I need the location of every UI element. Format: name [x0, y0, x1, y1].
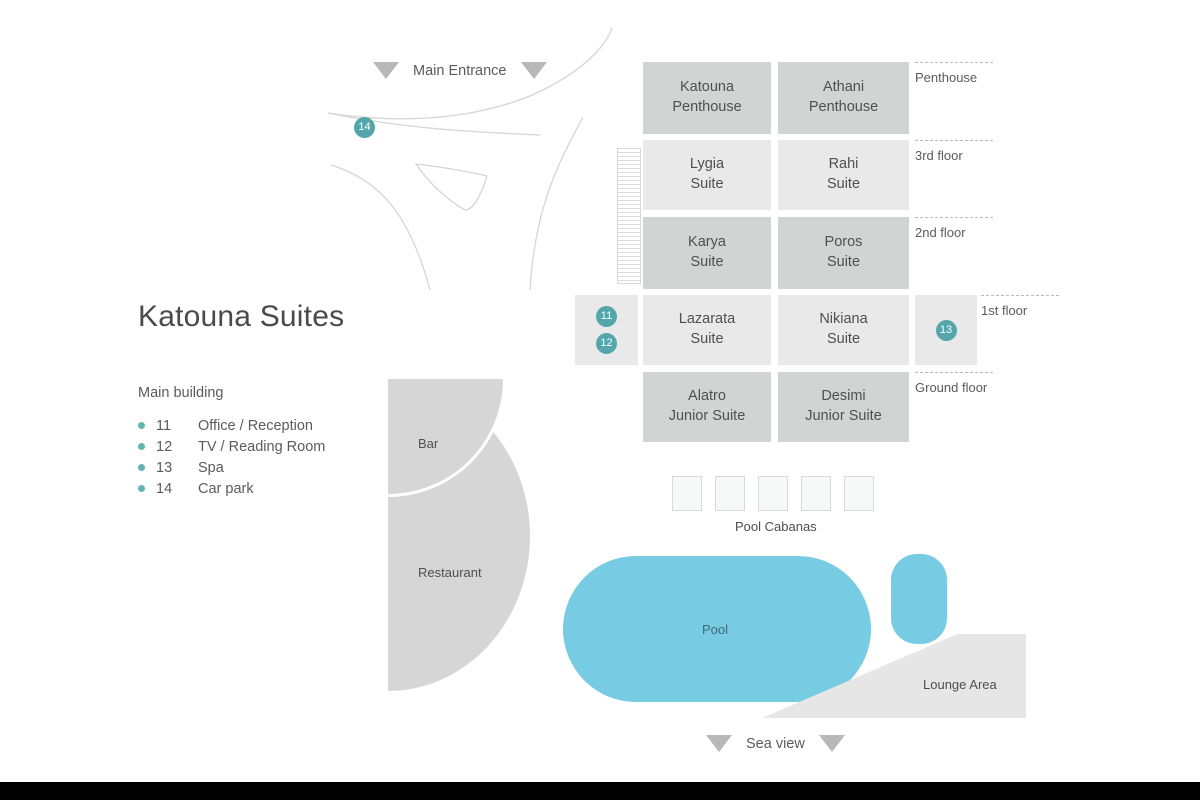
main-entrance-direction: Main Entrance [373, 62, 547, 79]
bullet-icon [138, 464, 145, 471]
page-title: Katouna Suites [138, 300, 344, 334]
bullet-icon [138, 443, 145, 450]
cabana[interactable] [715, 476, 745, 511]
floor-label-2nd: 2nd floor [915, 225, 966, 240]
legend-label: Spa [198, 460, 398, 476]
marker-spa[interactable]: 13 [936, 320, 957, 341]
suite-alatro-junior[interactable]: Alatro Junior Suite [643, 372, 771, 442]
suite-label: Alatro Junior Suite [669, 387, 746, 426]
marker-car-park[interactable]: 14 [354, 117, 375, 138]
marker-tv-reading-room[interactable]: 12 [596, 333, 617, 354]
jacuzzi-shape[interactable] [891, 554, 947, 644]
facilities-block-left[interactable]: 11 12 [575, 295, 638, 365]
floor-label-penthouse: Penthouse [915, 70, 977, 85]
arrow-down-icon [373, 62, 399, 79]
suite-label: Nikiana Suite [819, 310, 867, 349]
suite-katouna-penthouse[interactable]: Katouna Penthouse [643, 62, 771, 134]
suite-label: Poros Suite [825, 233, 863, 272]
floor-divider-3rd [915, 140, 993, 141]
suite-athani-penthouse[interactable]: Athani Penthouse [778, 62, 909, 134]
suite-label: Katouna Penthouse [672, 78, 741, 117]
pool-label: Pool [702, 622, 728, 637]
bullet-icon [138, 422, 145, 429]
floor-label-1st: 1st floor [981, 303, 1027, 318]
suite-label: Karya Suite [688, 233, 726, 272]
legend-number: 11 [156, 418, 198, 434]
legend-label: Office / Reception [198, 418, 398, 434]
cabana[interactable] [672, 476, 702, 511]
road-fork-left [331, 165, 430, 290]
arrow-down-icon [521, 62, 547, 79]
pool-cabanas-label: Pool Cabanas [735, 519, 817, 534]
cabana[interactable] [801, 476, 831, 511]
floor-label-3rd: 3rd floor [915, 148, 963, 163]
marker-office-reception[interactable]: 11 [596, 306, 617, 327]
sea-view-direction: Sea view [706, 735, 845, 752]
suite-nikiana[interactable]: Nikiana Suite [778, 295, 909, 365]
floor-label-ground: Ground floor [915, 380, 987, 395]
suite-desimi-junior[interactable]: Desimi Junior Suite [778, 372, 909, 442]
legend-number: 12 [156, 439, 198, 455]
legend-item-12[interactable]: 12 TV / Reading Room [138, 436, 398, 457]
legend-label: TV / Reading Room [198, 439, 398, 455]
legend-item-11[interactable]: 11 Office / Reception [138, 415, 398, 436]
legend-heading: Main building [138, 385, 398, 401]
cabana[interactable] [758, 476, 788, 511]
bullet-icon [138, 485, 145, 492]
suite-label: Lygia Suite [690, 155, 724, 194]
title-block: Katouna Suites [138, 300, 344, 334]
suite-label: Lazarata Suite [679, 310, 735, 349]
main-entrance-label: Main Entrance [413, 63, 507, 79]
arrow-down-icon [819, 735, 845, 752]
resort-map: Katouna Suites Main building 11 Office /… [0, 0, 1200, 800]
legend-item-13[interactable]: 13 Spa [138, 457, 398, 478]
floor-divider-1st [981, 295, 1059, 296]
food-and-beverage-block [388, 381, 530, 691]
restaurant-label: Restaurant [418, 565, 482, 580]
suite-poros[interactable]: Poros Suite [778, 217, 909, 289]
sea-view-label: Sea view [746, 736, 805, 752]
suite-rahi[interactable]: Rahi Suite [778, 140, 909, 210]
suite-lygia[interactable]: Lygia Suite [643, 140, 771, 210]
letterbox-bottom [0, 782, 1200, 800]
suite-label: Desimi Junior Suite [805, 387, 882, 426]
building-grid: Katouna Penthouse Athani Penthouse Penth… [575, 62, 1065, 442]
arrow-down-icon [706, 735, 732, 752]
suite-label: Rahi Suite [827, 155, 860, 194]
legend-item-14[interactable]: 14 Car park [138, 478, 398, 499]
suite-label: Athani Penthouse [809, 78, 878, 117]
suite-lazarata[interactable]: Lazarata Suite [643, 295, 771, 365]
lounge-area-label: Lounge Area [923, 677, 997, 692]
legend: Main building 11 Office / Reception 12 T… [138, 385, 398, 499]
suite-karya[interactable]: Karya Suite [643, 217, 771, 289]
legend-label: Car park [198, 481, 398, 497]
bar-label: Bar [418, 436, 438, 451]
pool-cabanas-row [672, 476, 874, 511]
legend-number: 13 [156, 460, 198, 476]
floor-divider-2nd [915, 217, 993, 218]
floor-divider-ground [915, 372, 993, 373]
floor-divider-penthouse [915, 62, 993, 63]
cabana[interactable] [844, 476, 874, 511]
legend-number: 14 [156, 481, 198, 497]
road-island [416, 164, 487, 210]
facilities-block-right[interactable]: 13 [915, 295, 977, 365]
